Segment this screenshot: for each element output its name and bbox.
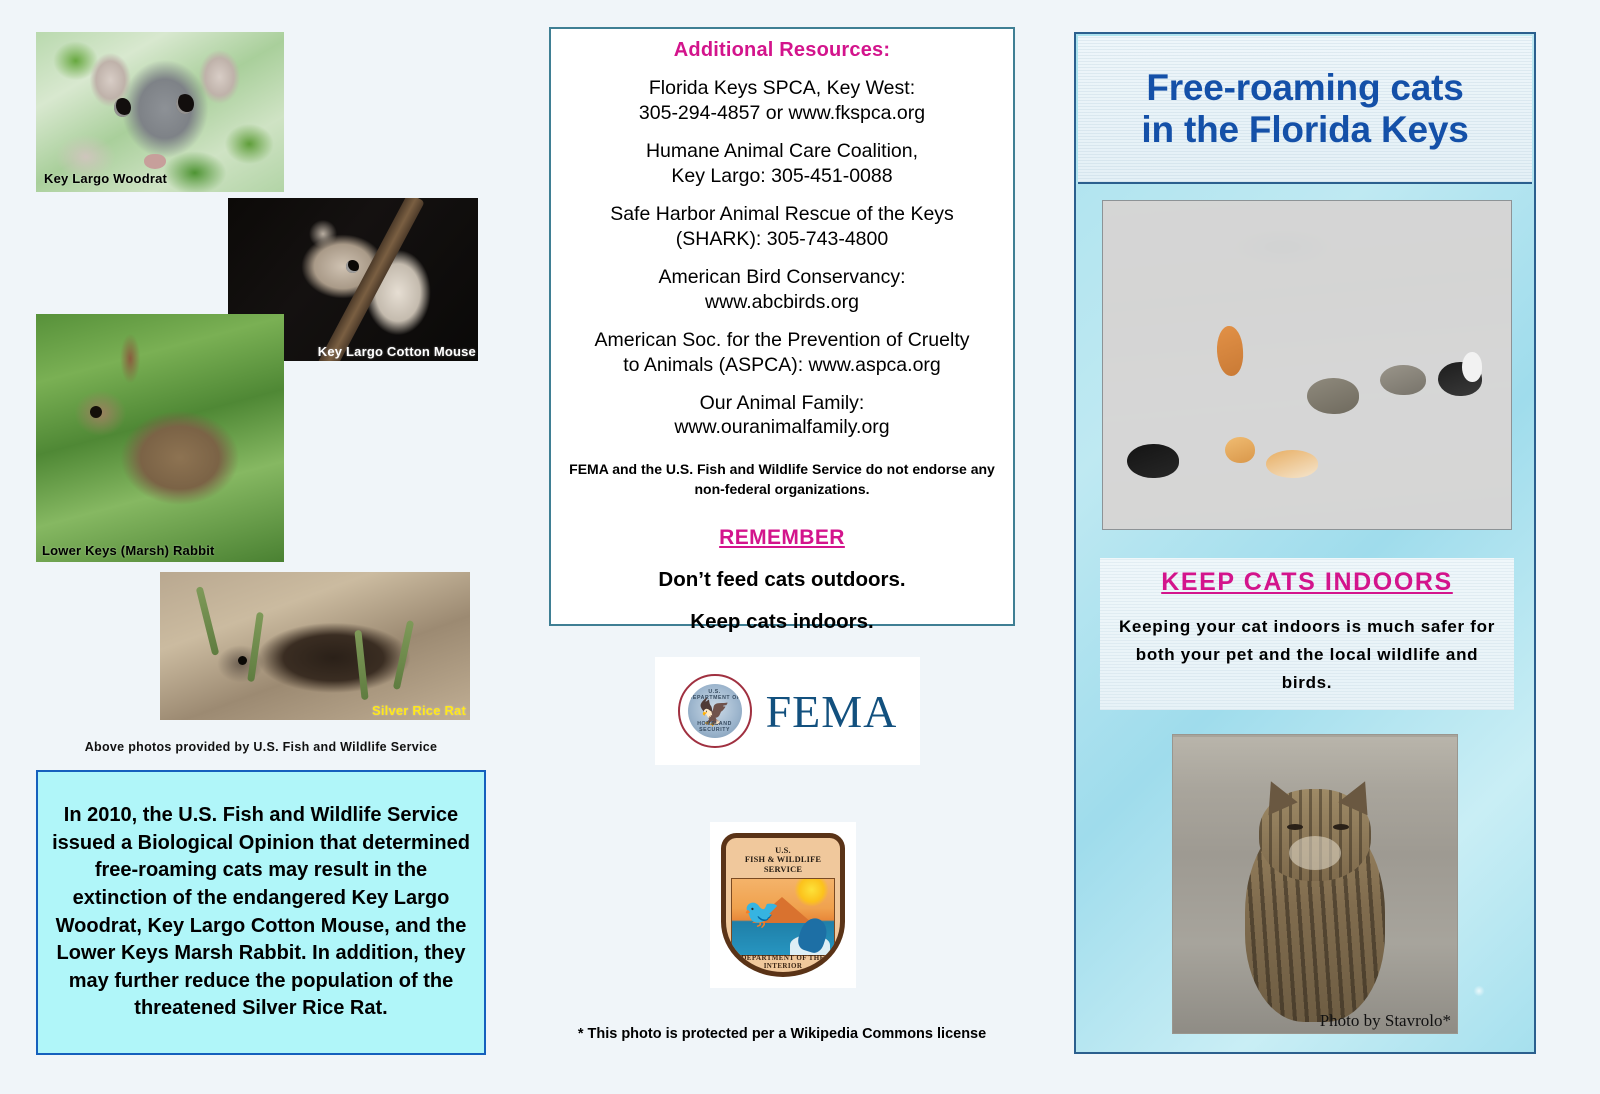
- stray-cat-photo-credit: Photo by Stavrolo*: [1320, 1011, 1451, 1031]
- plant-stem: [354, 630, 368, 700]
- silver-rice-rat-photo: Silver Rice Rat: [160, 572, 470, 720]
- biological-opinion-text: In 2010, the U.S. Fish and Wildlife Serv…: [52, 802, 470, 1023]
- key-largo-woodrat-photo: Key Largo Woodrat: [36, 32, 284, 192]
- keep-cats-indoors-box: KEEP CATS INDOORS Keeping your cat indoo…: [1100, 558, 1514, 710]
- endorsement-disclaimer: FEMA and the U.S. Fish and Wildlife Serv…: [563, 460, 1001, 499]
- keep-cats-indoors-body: Keeping your cat indoors is much safer f…: [1108, 613, 1506, 698]
- usfws-title-line2: FISH & WILDLIFE: [745, 855, 821, 864]
- cover-title-line-2: in the Florida Keys: [1141, 109, 1468, 150]
- photo-credit-line: Above photos provided by U.S. Fish and W…: [36, 740, 486, 754]
- left-panel: Key Largo Woodrat Key Largo Cotton Mouse…: [0, 0, 520, 1094]
- key-largo-woodrat-caption: Key Largo Woodrat: [44, 171, 167, 186]
- cover-title-line-1: Free-roaming cats: [1146, 67, 1463, 108]
- plant-stem: [393, 620, 414, 690]
- plant-stem: [196, 586, 220, 656]
- woodrat-eye-right: [176, 94, 194, 114]
- cat-black-left: [1127, 444, 1179, 478]
- cat-colony-photo: [1102, 200, 1512, 530]
- cat-white-far-right: [1462, 352, 1482, 382]
- resource-item-our-animal-family: Our Animal Family: www.ouranimalfamily.o…: [563, 391, 1001, 441]
- duck-icon: 🐦: [742, 895, 785, 932]
- key-largo-cotton-mouse-caption: Key Largo Cotton Mouse: [318, 344, 476, 359]
- stray-cat-photo: Photo by Stavrolo*: [1172, 734, 1458, 1034]
- cat-calico-lying: [1266, 450, 1318, 478]
- additional-resources-box: Additional Resources: Florida Keys SPCA,…: [549, 27, 1015, 626]
- usfws-shield-icon: U.S. FISH & WILDLIFE SERVICE 🐦 DEPARTMEN…: [721, 833, 845, 977]
- plant-stem: [247, 612, 264, 682]
- usfws-arc-text: DEPARTMENT OF THE INTERIOR: [726, 954, 840, 970]
- cat-gray-right: [1380, 365, 1426, 395]
- wikipedia-license-note: * This photo is protected per a Wikipedi…: [549, 1026, 1015, 1042]
- dhs-seal-bottom-text: HOMELAND SECURITY: [688, 721, 742, 733]
- rabbit-eye: [90, 406, 102, 418]
- cat-muzzle: [1289, 836, 1341, 870]
- usfws-title-line3: SERVICE: [764, 865, 802, 874]
- lower-keys-marsh-rabbit-caption: Lower Keys (Marsh) Rabbit: [42, 543, 215, 558]
- cover-title-band: Free-roaming cats in the Florida Keys: [1078, 36, 1532, 184]
- cotton-mouse-eye: [346, 260, 359, 273]
- biological-opinion-box: In 2010, the U.S. Fish and Wildlife Serv…: [36, 770, 486, 1055]
- usfws-logo: U.S. FISH & WILDLIFE SERVICE 🐦 DEPARTMEN…: [710, 822, 856, 988]
- remember-rule-keep-indoors: Keep cats indoors.: [563, 610, 1001, 634]
- resource-item-fkspca: Florida Keys SPCA, Key West: 305-294-485…: [563, 76, 1001, 126]
- right-panel-cover: Free-roaming cats in the Florida Keys KE…: [1074, 32, 1536, 1054]
- dhs-seal-inner: U.S. DEPARTMENT OF 🦅 HOMELAND SECURITY: [688, 684, 742, 738]
- fema-wordmark: FEMA: [766, 685, 898, 738]
- middle-panel: Additional Resources: Florida Keys SPCA,…: [520, 0, 1060, 1094]
- resource-item-abc: American Bird Conservancy: www.abcbirds.…: [563, 265, 1001, 315]
- tree-branch: [310, 198, 425, 361]
- remember-heading: REMEMBER: [563, 526, 1001, 550]
- resource-item-shark: Safe Harbor Animal Rescue of the Keys (S…: [563, 202, 1001, 252]
- fema-logo: U.S. DEPARTMENT OF 🦅 HOMELAND SECURITY F…: [655, 657, 920, 765]
- resource-item-aspca: American Soc. for the Prevention of Crue…: [563, 328, 1001, 378]
- cat-tabby-center: [1307, 378, 1359, 414]
- cover-title: Free-roaming cats in the Florida Keys: [1141, 67, 1468, 151]
- cat-ginger-kitten: [1225, 437, 1255, 463]
- rice-rat-eye: [238, 656, 247, 665]
- dhs-seal-icon: U.S. DEPARTMENT OF 🦅 HOMELAND SECURITY: [678, 674, 752, 748]
- lower-keys-marsh-rabbit-photo: Lower Keys (Marsh) Rabbit: [36, 314, 284, 562]
- woodrat-eye-left: [114, 98, 131, 117]
- resource-item-hacc: Humane Animal Care Coalition, Key Largo:…: [563, 139, 1001, 189]
- woodrat-nose: [144, 154, 166, 169]
- usfws-title-line1: U.S.: [775, 846, 791, 855]
- remember-rule-no-outdoor-feeding: Don’t feed cats outdoors.: [563, 568, 1001, 592]
- keep-cats-indoors-heading: KEEP CATS INDOORS: [1108, 568, 1506, 597]
- silver-rice-rat-caption: Silver Rice Rat: [372, 703, 466, 718]
- usfws-scene-icon: 🐦: [731, 878, 835, 956]
- additional-resources-heading: Additional Resources:: [563, 39, 1001, 62]
